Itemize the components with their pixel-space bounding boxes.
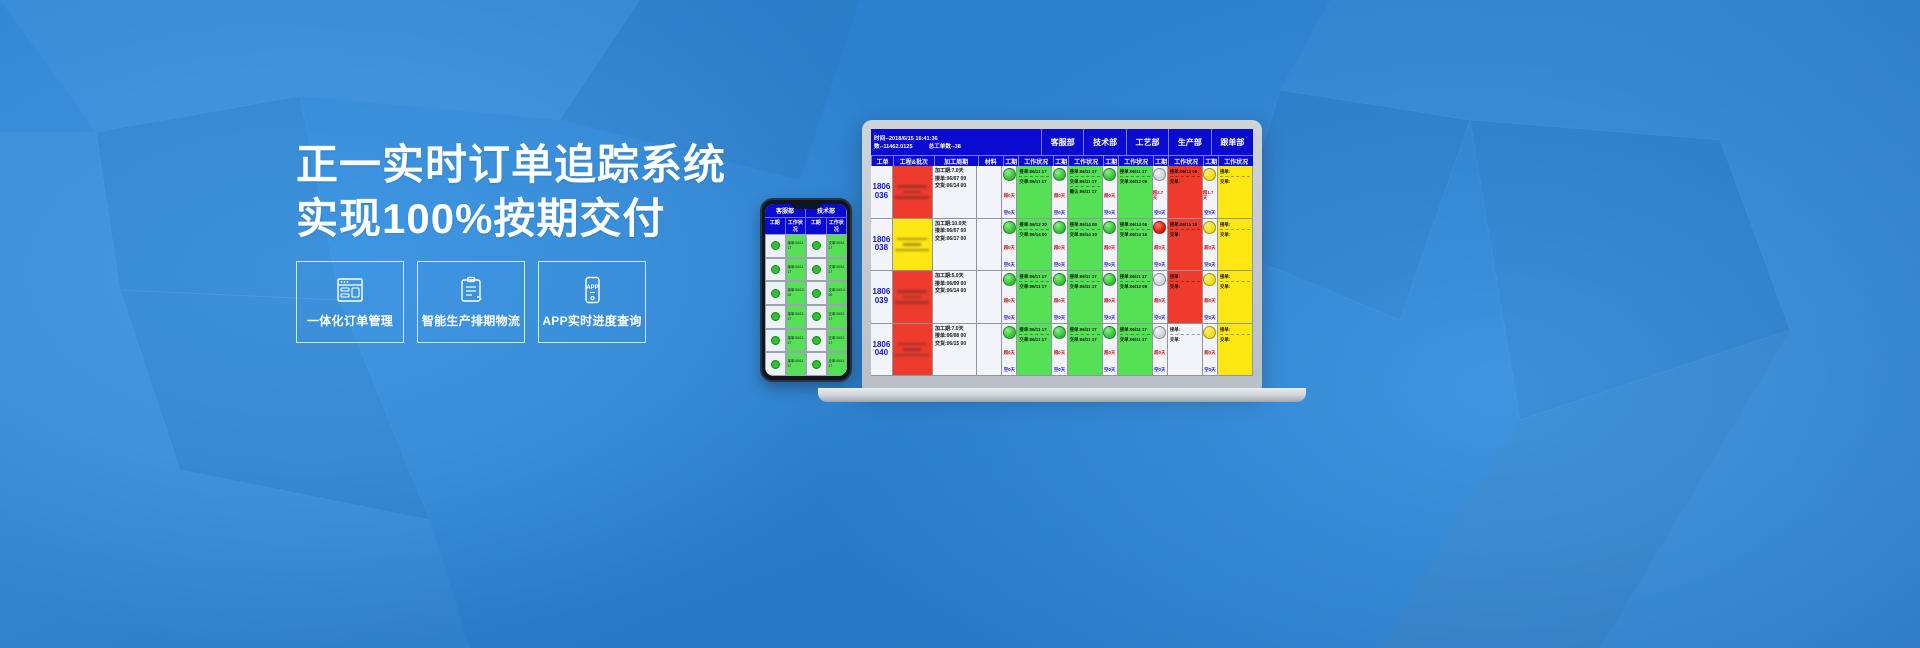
- phone-detail-text: 接单:06/11 17: [787, 264, 806, 276]
- cycle-delivery: 交货:06/15 00: [935, 341, 974, 349]
- status-line: 接单:06/11 17: [1070, 326, 1100, 333]
- status-line: 交单:06/11 17: [1070, 336, 1100, 343]
- dept-header-follow[interactable]: 跟单部: [1211, 129, 1253, 155]
- status-line: 交单:: [1220, 283, 1250, 290]
- cell-processing-cycle[interactable]: 加工期:7.0天接单:06/08 00交货:06/15 00: [933, 324, 977, 376]
- cell-processing-cycle[interactable]: 加工期:5.0天接单:06/09 00交货:06/14 00: [933, 271, 977, 323]
- col-header-work-order[interactable]: 工单: [871, 156, 893, 166]
- cell-work-status-3[interactable]: 接单:06/15 16交单:: [1168, 219, 1203, 271]
- badge-overtime: 超0天: [1004, 193, 1015, 199]
- redacted-project-text: [893, 166, 932, 218]
- cell-work-status-2[interactable]: 接单:06/11 17交单:06/12 09: [1118, 271, 1153, 323]
- phone-column-term-tech: [806, 234, 827, 376]
- status-line: 交单:06/11 17: [1070, 178, 1100, 185]
- badge-idle: 空0天: [1204, 262, 1215, 268]
- divider: [1170, 176, 1200, 177]
- cell-work-status-1[interactable]: 接单:06/11 17交单:06/11 17: [1068, 324, 1103, 376]
- status-line: 交单:06/12 09: [1120, 178, 1150, 185]
- status-dot-green-icon: [1003, 221, 1016, 234]
- phone-detail-cell[interactable]: 接单:06/11 17: [786, 352, 807, 376]
- col-header-status-tech[interactable]: 工作状况: [1068, 156, 1103, 166]
- status-line: 接单:: [1220, 221, 1250, 228]
- cell-term-3[interactable]: 超2.7天空0天: [1153, 166, 1168, 218]
- badge-overtime: 超0天: [1204, 298, 1215, 304]
- cycle-duration: 加工期:10.0天: [935, 221, 974, 229]
- phone-detail-cell[interactable]: 接单:06/12 20: [786, 281, 807, 305]
- cycle-delivery: 交货:06/17 00: [935, 236, 974, 244]
- cell-term-0[interactable]: 超0天空0天: [1002, 324, 1017, 376]
- badge-idle: 空0天: [1054, 367, 1065, 373]
- status-dot-gray-icon: [1153, 168, 1166, 181]
- status-dot-yellow-icon: [1203, 168, 1216, 181]
- divider: [1070, 176, 1100, 177]
- cell-work-order[interactable]: 1806040: [871, 324, 893, 376]
- status-dot-green: [812, 360, 821, 369]
- status-dot-green-icon: [1053, 221, 1066, 234]
- badge-idle: 空0天: [1154, 210, 1165, 216]
- laptop-lid: 时间--2018/6/15 16:41:36 数--11462.0125 总工单…: [862, 120, 1262, 390]
- cell-term-3[interactable]: 超0天空0天: [1153, 271, 1168, 323]
- work-order-suffix: 036: [875, 192, 888, 200]
- erp-department-headers: 客服部 技术部 工艺部 生产部 跟单部: [1041, 129, 1253, 155]
- cell-work-status-0[interactable]: 接单:06/11 17交单:06/11 17: [1017, 271, 1052, 323]
- phone-column-term-cs: [765, 234, 786, 376]
- erp-table-body: 1806036加工期:7.0天接单:06/07 00交货:06/14 00超0天…: [871, 166, 1253, 376]
- badge-overtime: 超0天: [1054, 350, 1065, 356]
- divider: [1170, 334, 1200, 335]
- phone-col-label: 工作状况: [786, 217, 807, 234]
- cell-work-order[interactable]: 1806036: [871, 166, 893, 218]
- col-header-cycle[interactable]: 加工周期: [934, 156, 978, 166]
- phone-col-label: 工期: [765, 217, 786, 234]
- erp-time-value: 时间--2018/6/15 16:41:36: [874, 134, 938, 142]
- phone-detail-cell[interactable]: 交单:06/11 17: [827, 352, 848, 376]
- phone-detail-cell[interactable]: 接单:06/11 17: [786, 329, 807, 353]
- badge-idle: 空0天: [1104, 315, 1115, 321]
- divider: [1220, 229, 1250, 230]
- divider: [1220, 334, 1250, 335]
- badge-idle: 空0天: [1154, 315, 1165, 321]
- divider: [1070, 281, 1100, 282]
- status-line: 交单:06/11 17: [1019, 336, 1049, 343]
- cycle-duration: 加工期:5.0天: [935, 273, 974, 281]
- laptop-screen: 时间--2018/6/15 16:41:36 数--11462.0125 总工单…: [871, 129, 1253, 376]
- phone-column-status-tech: 交单:06/11 17 交单:06/11 17 交单:06/14 00 交单:0…: [827, 234, 848, 376]
- cell-term-1[interactable]: 超0天空0天: [1052, 271, 1067, 323]
- cycle-delivery: 交货:06/14 00: [935, 288, 974, 296]
- status-dot-green-icon: [1053, 273, 1066, 286]
- phone-detail-text: 交单:06/11 17: [828, 358, 847, 370]
- cell-work-status-4[interactable]: 接单:交单:: [1218, 219, 1253, 271]
- cell-work-status-0[interactable]: 接单:06/11 17交单:06/11 17: [1017, 166, 1052, 218]
- phone-notch: [791, 203, 821, 209]
- status-dot-red-icon: [1153, 221, 1166, 234]
- erp-dashboard: 时间--2018/6/15 16:41:36 数--11462.0125 总工单…: [871, 129, 1253, 376]
- table-row[interactable]: 1806036加工期:7.0天接单:06/07 00交货:06/14 00超0天…: [871, 166, 1253, 219]
- badge-overtime: 超0天: [1004, 298, 1015, 304]
- cell-work-status-1[interactable]: 接单:06/11 17交单:06/11 17确认:06/11 17: [1068, 166, 1103, 218]
- status-line: 接单:06/11 17: [1019, 273, 1049, 280]
- table-row[interactable]: 1806039加工期:5.0天接单:06/09 00交货:06/14 00超0天…: [871, 271, 1253, 324]
- erp-number-line: 数--11462.0125 总工单数--38: [874, 142, 1038, 150]
- status-dot-green-icon: [1103, 273, 1116, 286]
- divider: [1070, 229, 1100, 230]
- cell-term-1[interactable]: 超0天空0天: [1052, 219, 1067, 271]
- badge-overtime: 超0天: [1154, 298, 1165, 304]
- cell-processing-cycle[interactable]: 加工期:7.0天接单:06/07 00交货:06/14 00: [933, 166, 977, 218]
- divider: [1220, 176, 1250, 177]
- status-line: 交单:: [1170, 336, 1200, 343]
- badge-overtime: 超0天: [1104, 193, 1115, 199]
- divider: [1019, 176, 1049, 177]
- cell-project-batch[interactable]: [893, 324, 933, 376]
- cell-term-1[interactable]: 超0天空0天: [1052, 324, 1067, 376]
- status-line: 接单:06/14 00: [1070, 221, 1100, 228]
- col-header-term-cs[interactable]: 工期: [1003, 156, 1018, 166]
- cell-term-3[interactable]: 超0天空0天: [1153, 324, 1168, 376]
- status-dot-green: [812, 265, 821, 274]
- status-dot-green-icon: [1053, 168, 1066, 181]
- status-line: 接单:06/11 17: [1120, 273, 1150, 280]
- status-dot-green: [771, 312, 780, 321]
- badge-idle: 空0天: [1004, 262, 1015, 268]
- cell-work-status-4[interactable]: 接单:交单:: [1218, 166, 1253, 218]
- col-header-term-prod[interactable]: 工期: [1153, 156, 1168, 166]
- status-dot-green: [812, 289, 821, 298]
- status-dot-green: [771, 289, 780, 298]
- phone-detail-text: 接单:06/11 17: [787, 240, 806, 252]
- erp-column-headers: 工单 工程&批次 加工周期 材料 工期 工作状况 工期 工作状况 工期 工作状况…: [871, 155, 1253, 166]
- phone-status-cell[interactable]: [765, 234, 786, 258]
- cycle-received: 接单:06/08 00: [935, 333, 974, 341]
- status-dot-gray-icon: [1153, 326, 1166, 339]
- phone-detail-text: 接单:06/11 17: [787, 335, 806, 347]
- cell-term-4[interactable]: 超0天空0天: [1203, 219, 1218, 271]
- badge-overtime: 超0天: [1054, 193, 1065, 199]
- phone-status-cell[interactable]: [806, 258, 827, 282]
- cell-material[interactable]: [977, 219, 1002, 271]
- status-line: 接单:: [1170, 273, 1200, 280]
- status-line: 接单:06/12 20: [1019, 221, 1049, 228]
- cell-term-1[interactable]: 超0天空0天: [1052, 166, 1067, 218]
- cell-material[interactable]: [977, 166, 1002, 218]
- badge-overtime: 超0天: [1004, 350, 1015, 356]
- status-line: 接单:06/11 17: [1070, 273, 1100, 280]
- status-line: 接单:06/11 17: [1070, 168, 1100, 175]
- phone-detail-text: 交单:06/11 17: [828, 335, 847, 347]
- phone-status-cell[interactable]: [806, 352, 827, 376]
- laptop-base: [818, 388, 1306, 402]
- table-row[interactable]: 1806040加工期:7.0天接单:06/08 00交货:06/15 00超0天…: [871, 324, 1253, 377]
- badge-idle: 空0天: [1204, 210, 1215, 216]
- status-line: 交单:06/11 17: [1019, 178, 1049, 185]
- cell-work-status-3[interactable]: 接单:交单:: [1168, 324, 1203, 376]
- badge-overtime: 超0天: [1054, 245, 1065, 251]
- col-header-project[interactable]: 工程&批次: [893, 156, 934, 166]
- badge-overtime: 超0天: [1104, 245, 1115, 251]
- status-line: 接单:06/14 08: [1120, 221, 1150, 228]
- cell-project-batch[interactable]: [893, 219, 933, 271]
- col-header-status-craft[interactable]: 工作状况: [1118, 156, 1153, 166]
- status-line: 交单:06/11 17: [1070, 283, 1100, 290]
- phone-detail-text: 接单:06/11 17: [787, 358, 806, 370]
- badge-idle: 空0天: [1054, 210, 1065, 216]
- phone-status-cell[interactable]: [765, 329, 786, 353]
- badge-idle: 空0天: [1004, 315, 1015, 321]
- phone-detail-text: 交单:06/11 17: [828, 311, 847, 323]
- badge-overtime: 超0天: [1004, 245, 1015, 251]
- cell-term-2[interactable]: 超0天空0天: [1103, 324, 1118, 376]
- status-dot-yellow-icon: [1203, 326, 1216, 339]
- status-dot-gray-icon: [1153, 273, 1166, 286]
- phone-detail-text: 交单:06/11 17: [828, 240, 847, 252]
- cell-term-2[interactable]: 超0天空0天: [1103, 166, 1118, 218]
- divider: [1120, 229, 1150, 230]
- phone-status-cell[interactable]: [765, 352, 786, 376]
- divider: [1170, 229, 1200, 230]
- badge-overtime: 超0天: [1154, 245, 1165, 251]
- status-line: 接单:06/11 17: [1019, 168, 1049, 175]
- badge-idle: 空0天: [1004, 210, 1015, 216]
- divider: [1170, 281, 1200, 282]
- status-line: 交单:06/12 09: [1120, 283, 1150, 290]
- divider: [1120, 176, 1150, 177]
- phone-detail-cell[interactable]: 接单:06/11 17: [786, 305, 807, 329]
- status-dot-green-icon: [1003, 273, 1016, 286]
- phone-table-body: 接单:06/11 17 接单:06/11 17 接单:06/12 20 接单:0…: [765, 234, 847, 376]
- status-line: 交单:06/14 16: [1120, 231, 1150, 238]
- cell-work-status-0[interactable]: 接单:06/12 20交单:06/14 00: [1017, 219, 1052, 271]
- erp-number-value: 数--11462.0125: [874, 142, 913, 150]
- status-line: 交单:: [1220, 336, 1250, 343]
- cell-project-batch[interactable]: [893, 271, 933, 323]
- cell-term-0[interactable]: 超0天空0天: [1002, 219, 1017, 271]
- cell-work-status-2[interactable]: 接单:06/11 17交单:06/12 09: [1118, 166, 1153, 218]
- device-mockups: 客服部 技术部 工期 工作状况 工期 工作状况 接单:06: [0, 0, 1920, 648]
- col-header-term-tech[interactable]: 工期: [1053, 156, 1068, 166]
- phone-status-cell[interactable]: [806, 329, 827, 353]
- cell-processing-cycle[interactable]: 加工期:10.0天接单:06/07 00交货:06/17 00: [933, 219, 977, 271]
- badge-overtime: 超2.7天: [1153, 190, 1167, 201]
- status-dot-green-icon: [1053, 326, 1066, 339]
- phone-detail-cell[interactable]: 接单:06/11 17: [786, 258, 807, 282]
- cell-work-status-4[interactable]: 接单:交单:: [1218, 271, 1253, 323]
- divider: [1070, 186, 1100, 187]
- phone-detail-cell[interactable]: 交单:06/11 17: [827, 234, 848, 258]
- erp-top-bar: 时间--2018/6/15 16:41:36 数--11462.0125 总工单…: [871, 129, 1253, 155]
- cycle-duration: 加工期:7.0天: [935, 168, 974, 176]
- cell-work-status-0[interactable]: 接单:06/11 17交单:06/11 17: [1017, 324, 1052, 376]
- col-header-status-prod[interactable]: 工作状况: [1168, 156, 1203, 166]
- phone-status-cell[interactable]: [806, 281, 827, 305]
- cell-term-3[interactable]: 超0天空0天: [1153, 219, 1168, 271]
- badge-idle: 空0天: [1054, 315, 1065, 321]
- status-line: 交单:: [1170, 283, 1200, 290]
- status-line: 接单:06/11 17: [1019, 326, 1049, 333]
- status-dot-green: [812, 241, 821, 250]
- col-header-term-follow[interactable]: 工期: [1203, 156, 1218, 166]
- col-header-material[interactable]: 材料: [978, 156, 1003, 166]
- status-line: 交单:06/11 17: [1120, 336, 1150, 343]
- phone-screen: 客服部 技术部 工期 工作状况 工期 工作状况 接单:06: [765, 204, 847, 376]
- divider: [1070, 334, 1100, 335]
- divider: [1120, 334, 1150, 335]
- status-dot-green-icon: [1103, 326, 1116, 339]
- status-line: 交单:: [1220, 231, 1250, 238]
- dept-header-tech[interactable]: 技术部: [1083, 129, 1125, 155]
- badge-overtime: 超0天: [1204, 245, 1215, 251]
- badge-overtime: 超0天: [1054, 298, 1065, 304]
- phone-col-label: 工作状况: [827, 217, 848, 234]
- erp-time-line: 时间--2018/6/15 16:41:36: [874, 134, 1038, 142]
- status-dot-green: [812, 336, 821, 345]
- status-line: 接单:06/12 09: [1170, 168, 1200, 175]
- status-dot-yellow-icon: [1203, 273, 1216, 286]
- status-line: 接单:06/11 17: [1120, 326, 1150, 333]
- work-order-suffix: 038: [875, 244, 888, 252]
- status-line: 确认:06/11 17: [1070, 188, 1100, 195]
- phone-detail-text: 交单:06/14 00: [828, 287, 847, 299]
- phone-subcolumn-header: 工期 工作状况 工期 工作状况: [765, 217, 847, 234]
- badge-overtime: 超1.7天: [1203, 190, 1217, 201]
- phone-status-cell[interactable]: [765, 258, 786, 282]
- cycle-received: 接单:06/07 00: [935, 176, 974, 184]
- cell-project-batch[interactable]: [893, 166, 933, 218]
- col-header-status-follow[interactable]: 工作状况: [1218, 156, 1253, 166]
- cell-term-4[interactable]: 超0天空0天: [1203, 324, 1218, 376]
- cell-term-0[interactable]: 超0天空0天: [1002, 166, 1017, 218]
- cell-material[interactable]: [977, 324, 1002, 376]
- divider: [1019, 281, 1049, 282]
- redacted-project-text: [893, 219, 932, 271]
- table-row[interactable]: 1806038加工期:10.0天接单:06/07 00交货:06/17 00超0…: [871, 219, 1253, 272]
- status-line: 接单:: [1220, 168, 1250, 175]
- cell-work-order[interactable]: 1806039: [871, 271, 893, 323]
- cycle-delivery: 交货:06/14 00: [935, 183, 974, 191]
- status-line: 接单:: [1220, 273, 1250, 280]
- cycle-received: 接单:06/09 00: [935, 281, 974, 289]
- cell-work-order[interactable]: 1806038: [871, 219, 893, 271]
- phone-status-cell[interactable]: [765, 281, 786, 305]
- redacted-project-text: [893, 324, 932, 376]
- redacted-project-text: [893, 271, 932, 323]
- phone-detail-cell[interactable]: 交单:06/14 00: [827, 281, 848, 305]
- status-dot-green: [812, 312, 821, 321]
- divider: [1220, 281, 1250, 282]
- phone-detail-cell[interactable]: 接单:06/11 17: [786, 234, 807, 258]
- phone-status-cell[interactable]: [806, 234, 827, 258]
- cell-term-4[interactable]: 超0天空0天: [1203, 271, 1218, 323]
- status-line: 交单:06/11 17: [1019, 283, 1049, 290]
- status-dot-yellow-icon: [1203, 221, 1216, 234]
- cell-work-status-4[interactable]: 接单:交单:: [1218, 324, 1253, 376]
- cell-work-status-2[interactable]: 接单:06/14 08交单:06/14 16: [1118, 219, 1153, 271]
- cycle-received: 接单:06/07 00: [935, 228, 974, 236]
- status-dot-green-icon: [1103, 221, 1116, 234]
- phone-detail-text: 接单:06/11 17: [787, 311, 806, 323]
- phone-detail-cell[interactable]: 交单:06/11 17: [827, 258, 848, 282]
- cell-term-4[interactable]: 超1.7天空0天: [1203, 166, 1218, 218]
- badge-overtime: 超0天: [1154, 350, 1165, 356]
- status-dot-green-icon: [1103, 168, 1116, 181]
- status-dot-green-icon: [1003, 168, 1016, 181]
- badge-idle: 空0天: [1154, 367, 1165, 373]
- status-dot-green-icon: [1003, 326, 1016, 339]
- cell-work-status-1[interactable]: 接单:06/14 00交单:06/14 10: [1068, 219, 1103, 271]
- dept-header-craft[interactable]: 工艺部: [1126, 129, 1168, 155]
- status-line: 接单:: [1170, 326, 1200, 333]
- status-dot-green: [771, 241, 780, 250]
- badge-idle: 空0天: [1204, 367, 1215, 373]
- badge-idle: 空0天: [1204, 315, 1215, 321]
- badge-idle: 空0天: [1054, 262, 1065, 268]
- phone-col-label: 工期: [806, 217, 827, 234]
- dept-header-prod[interactable]: 生产部: [1168, 129, 1210, 155]
- badge-idle: 空0天: [1104, 210, 1115, 216]
- status-line: 接单:06/15 16: [1170, 221, 1200, 228]
- dept-header-cs[interactable]: 客服部: [1041, 129, 1083, 155]
- status-line: 交单:: [1220, 178, 1250, 185]
- col-header-term-craft[interactable]: 工期: [1103, 156, 1118, 166]
- badge-overtime: 超0天: [1204, 350, 1215, 356]
- divider: [1120, 281, 1150, 282]
- phone-status-cell[interactable]: [765, 305, 786, 329]
- phone-mockup: 客服部 技术部 工期 工作状况 工期 工作状况 接单:06: [760, 198, 852, 382]
- status-dot-green: [771, 265, 780, 274]
- work-order-suffix: 039: [875, 297, 888, 305]
- phone-column-status-cs: 接单:06/11 17 接单:06/11 17 接单:06/12 20 接单:0…: [786, 234, 807, 376]
- status-line: 接单:: [1220, 326, 1250, 333]
- badge-overtime: 超0天: [1104, 298, 1115, 304]
- badge-idle: 空0天: [1154, 262, 1165, 268]
- cell-work-status-1[interactable]: 接单:06/11 17交单:06/11 17: [1068, 271, 1103, 323]
- phone-detail-cell[interactable]: 交单:06/11 17: [827, 329, 848, 353]
- status-line: 交单:: [1170, 178, 1200, 185]
- status-line: 交单:06/14 00: [1019, 231, 1049, 238]
- work-order-suffix: 040: [875, 349, 888, 357]
- phone-detail-cell[interactable]: 交单:06/11 17: [827, 305, 848, 329]
- cell-work-status-2[interactable]: 接单:06/11 17交单:06/11 17: [1118, 324, 1153, 376]
- badge-overtime: 超0天: [1104, 350, 1115, 356]
- cell-term-2[interactable]: 超0天空0天: [1103, 219, 1118, 271]
- col-header-status-cs[interactable]: 工作状况: [1018, 156, 1053, 166]
- cell-term-2[interactable]: 超0天空0天: [1103, 271, 1118, 323]
- erp-meta-info: 时间--2018/6/15 16:41:36 数--11462.0125 总工单…: [871, 129, 1041, 155]
- cycle-duration: 加工期:7.0天: [935, 326, 974, 334]
- status-dot-green: [771, 336, 780, 345]
- badge-idle: 空0天: [1104, 367, 1115, 373]
- phone-detail-text: 接单:06/12 20: [787, 287, 806, 299]
- status-dot-green: [771, 360, 780, 369]
- divider: [1019, 229, 1049, 230]
- status-line: 接单:06/11 17: [1120, 168, 1150, 175]
- status-line: 交单:06/14 10: [1070, 231, 1100, 238]
- phone-status-cell[interactable]: [806, 305, 827, 329]
- laptop-mockup: 时间--2018/6/15 16:41:36 数--11462.0125 总工单…: [862, 120, 1332, 420]
- divider: [1019, 334, 1049, 335]
- erp-total-orders: 总工单数--38: [929, 142, 961, 150]
- status-line: 交单:: [1170, 231, 1200, 238]
- phone-detail-text: 交单:06/11 17: [828, 264, 847, 276]
- cell-material[interactable]: [977, 271, 1002, 323]
- cell-work-status-3[interactable]: 接单:交单:: [1168, 271, 1203, 323]
- cell-work-status-3[interactable]: 接单:06/12 09交单:: [1168, 166, 1203, 218]
- cell-term-0[interactable]: 超0天空0天: [1002, 271, 1017, 323]
- badge-idle: 空0天: [1004, 367, 1015, 373]
- badge-idle: 空0天: [1104, 262, 1115, 268]
